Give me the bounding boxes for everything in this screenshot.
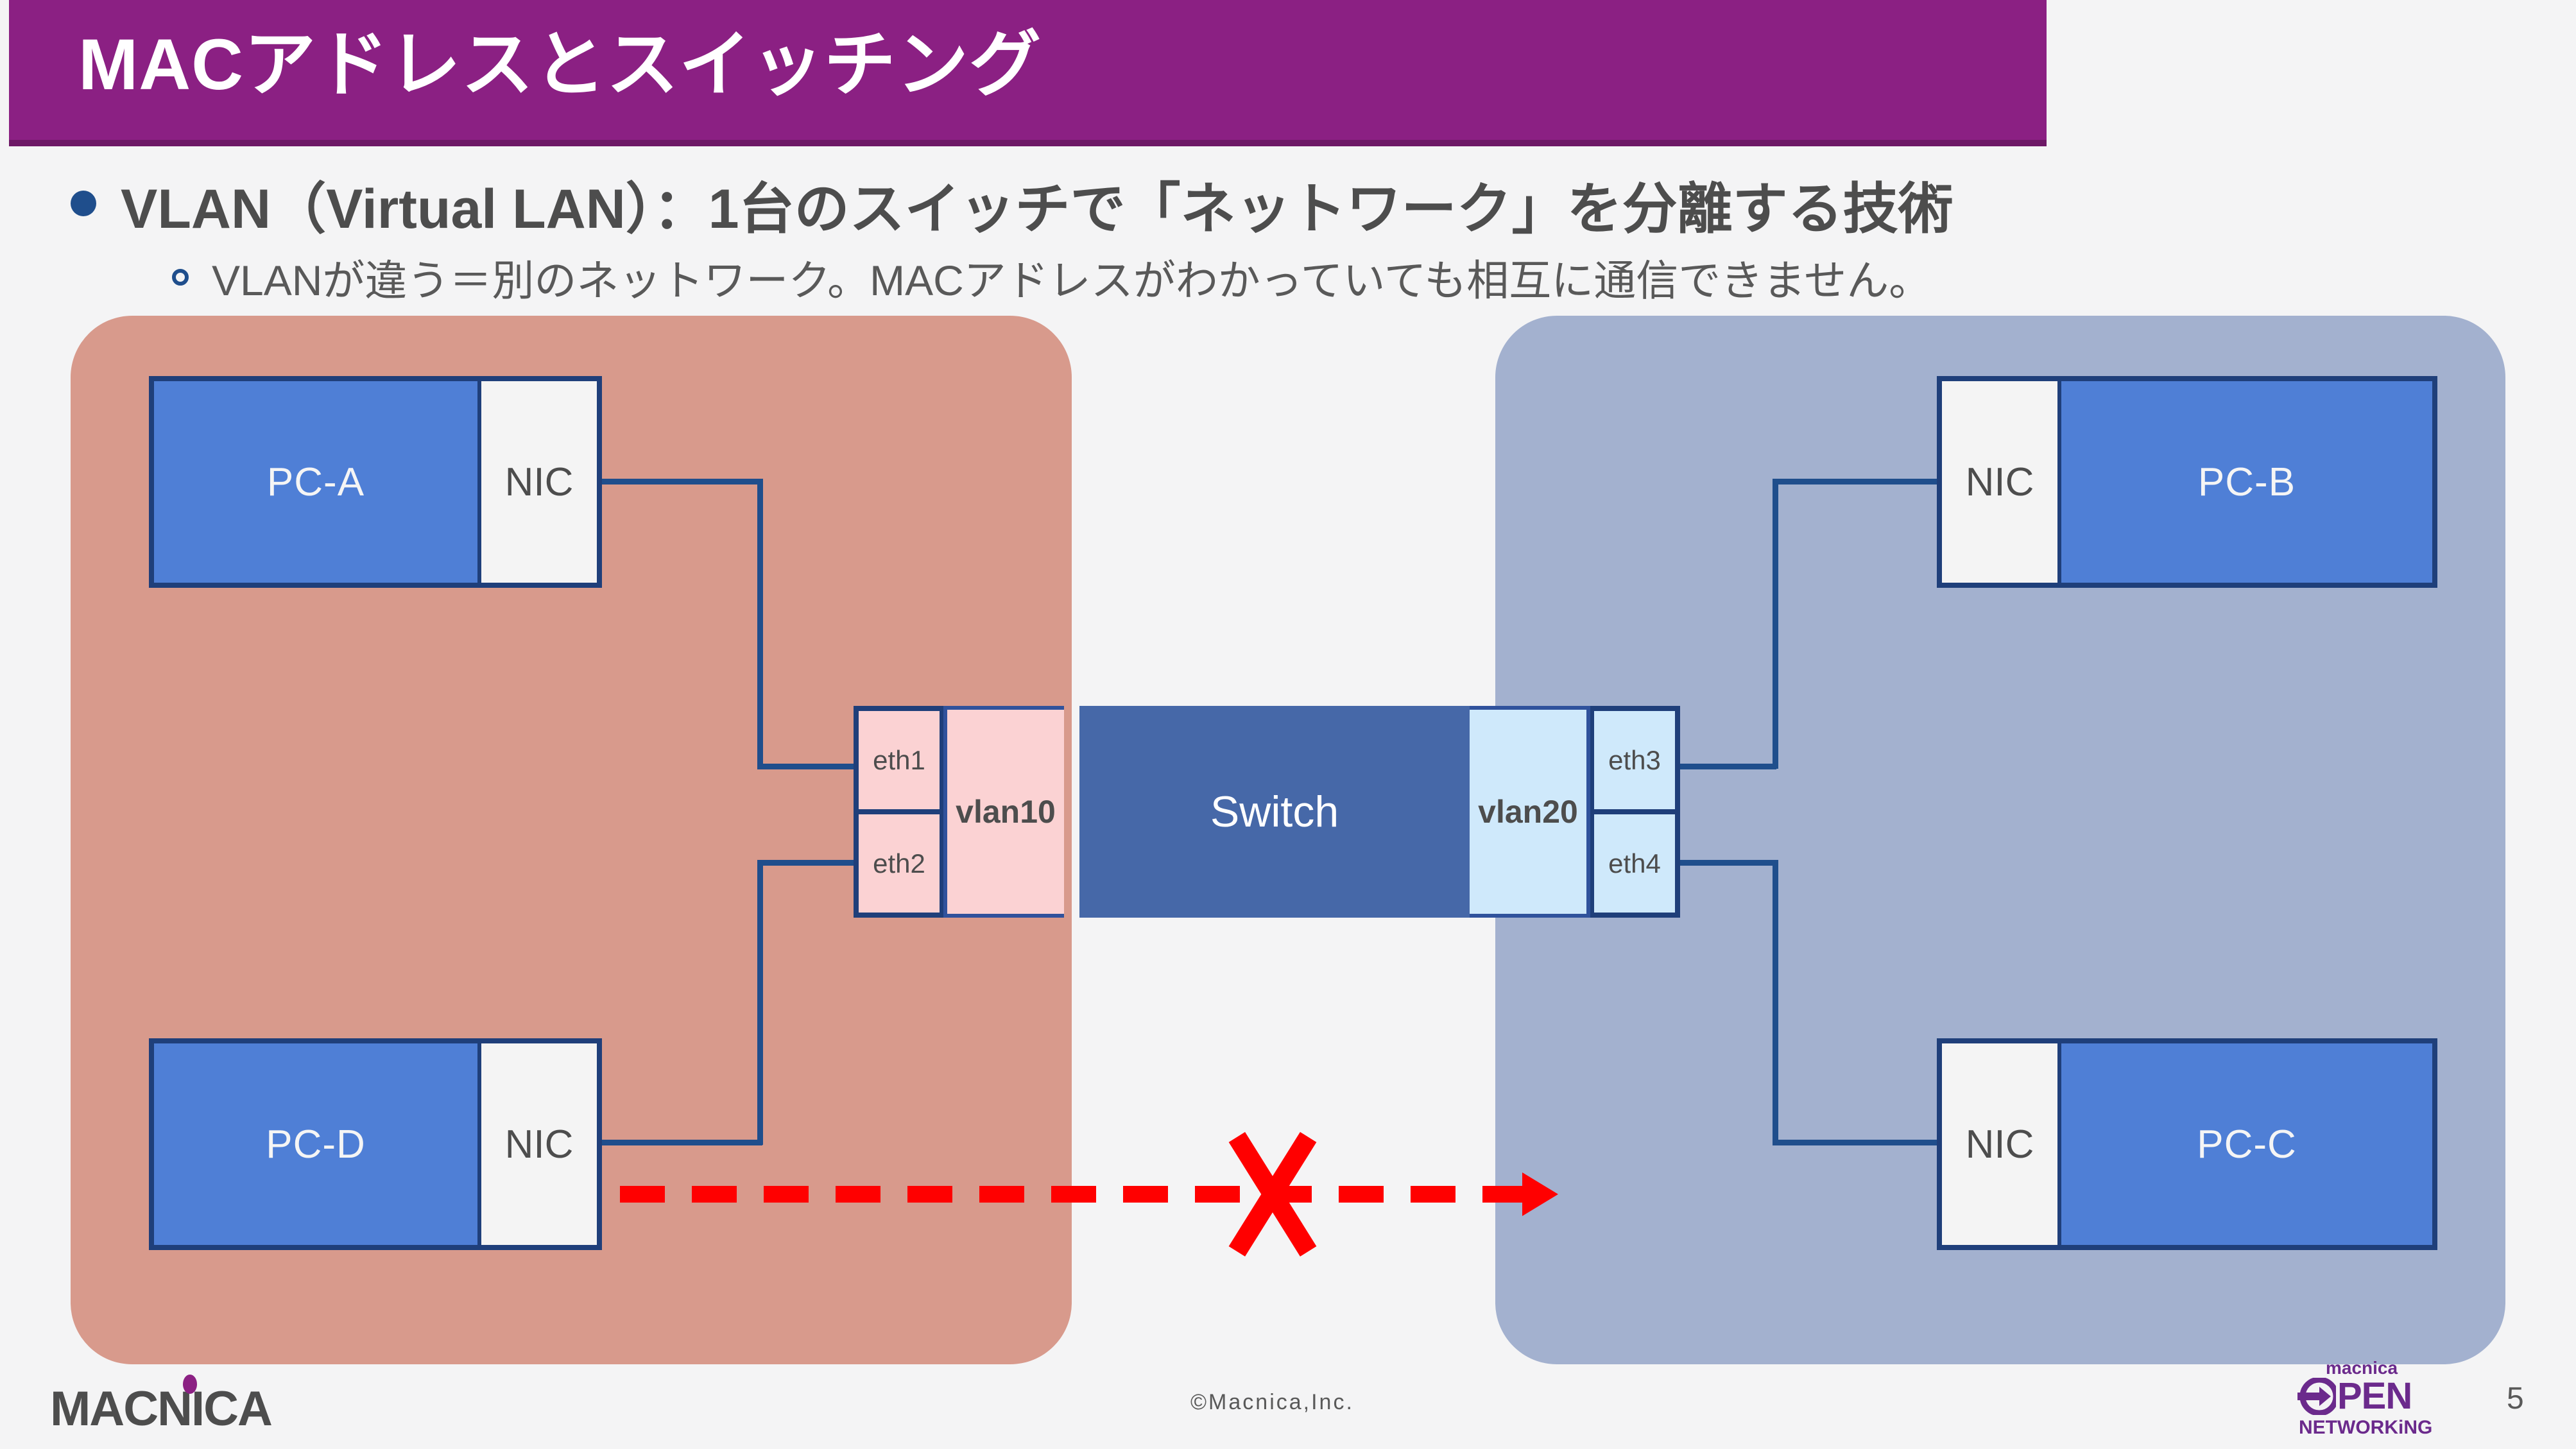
slide-root: MACアドレスとスイッチング VLAN（Virtual LAN）：1台のスイッチ… bbox=[0, 0, 2576, 1449]
open-logo-top-label: macnica bbox=[2326, 1359, 2398, 1377]
host-pc-c-label: PC-C bbox=[2061, 1043, 2432, 1245]
copyright-text: ©Macnica,Inc. bbox=[1190, 1390, 1354, 1415]
link-pcd-h2 bbox=[757, 860, 859, 866]
blocked-path-dashed-line bbox=[620, 1186, 1531, 1203]
link-pcc-v bbox=[1773, 860, 1778, 1145]
switch-port-eth4[interactable]: eth4 bbox=[1594, 814, 1675, 913]
switch-ports-right: eth3 eth4 bbox=[1590, 706, 1680, 918]
link-pca-h1 bbox=[598, 479, 762, 484]
link-pca-v bbox=[757, 479, 763, 769]
macnica-logo: MACNICA bbox=[50, 1378, 320, 1428]
link-pcb-h2 bbox=[1773, 479, 1941, 484]
link-pcc-h2 bbox=[1773, 1140, 1941, 1145]
bullet-level1-label: VLAN（Virtual LAN）：1台のスイッチで「ネットワーク」を分離する技… bbox=[121, 164, 1953, 244]
host-pc-d-nic: NIC bbox=[477, 1043, 597, 1245]
host-pc-b[interactable]: NIC PC-B bbox=[1937, 376, 2437, 588]
host-pc-b-nic: NIC bbox=[1942, 381, 2061, 583]
open-logo-word-label: PEN bbox=[2337, 1378, 2412, 1415]
switch-port-eth1[interactable]: eth1 bbox=[859, 711, 940, 814]
host-pc-c-nic: NIC bbox=[1942, 1043, 2061, 1245]
link-pcb-h1 bbox=[1676, 764, 1776, 769]
macnica-logo-dot-icon bbox=[183, 1375, 197, 1394]
arrow-into-circle-icon bbox=[2297, 1378, 2336, 1415]
link-pcc-h1 bbox=[1676, 860, 1776, 866]
link-pca-h2 bbox=[757, 764, 859, 769]
open-logo-middle-row: PEN bbox=[2297, 1377, 2412, 1416]
host-pc-c[interactable]: NIC PC-C bbox=[1937, 1038, 2437, 1250]
bullet-level2-label: VLANが違う＝別のネットワーク。MACアドレスがわかっていても相互に通信できま… bbox=[212, 246, 1931, 308]
macnica-open-networking-logo: macnica PEN NETWORKiNG bbox=[2297, 1359, 2445, 1441]
blocked-path-arrow-icon bbox=[1522, 1172, 1558, 1216]
page-number: 5 bbox=[2507, 1381, 2524, 1416]
host-pc-a-label: PC-A bbox=[154, 381, 477, 583]
bullet-dot-filled-icon bbox=[71, 191, 96, 216]
host-pc-d-label: PC-D bbox=[154, 1043, 477, 1245]
link-pcb-v bbox=[1773, 479, 1778, 769]
switch-vlan20-band: vlan20 bbox=[1470, 706, 1590, 918]
switch-vlan10-band: vlan10 bbox=[943, 706, 1064, 918]
host-pc-b-label: PC-B bbox=[2061, 381, 2432, 583]
switch-body-label[interactable]: Switch bbox=[1079, 706, 1470, 918]
blocked-path-cross-icon bbox=[1205, 1127, 1340, 1262]
bullet-dot-hollow-icon bbox=[172, 269, 189, 286]
host-pc-a[interactable]: PC-A NIC bbox=[149, 376, 602, 588]
host-pc-d[interactable]: PC-D NIC bbox=[149, 1038, 602, 1250]
host-pc-a-nic: NIC bbox=[477, 381, 597, 583]
link-pcd-v bbox=[757, 860, 763, 1145]
switch-port-eth3[interactable]: eth3 bbox=[1594, 711, 1675, 814]
page-title: MACアドレスとスイッチング bbox=[78, 17, 1042, 113]
bullet-level1: VLAN（Virtual LAN）：1台のスイッチで「ネットワーク」を分離する技… bbox=[71, 168, 1953, 239]
open-logo-bottom-label: NETWORKiNG bbox=[2299, 1418, 2432, 1437]
bullet-level2: VLANが違う＝別のネットワーク。MACアドレスがわかっていても相互に通信できま… bbox=[172, 246, 1931, 308]
macnica-wordmark: MACNICA bbox=[50, 1385, 271, 1434]
link-pcd-h1 bbox=[598, 1140, 762, 1145]
title-bar-shadow bbox=[9, 140, 2047, 146]
switch-ports-left: eth1 eth2 bbox=[854, 706, 943, 918]
switch-port-eth2[interactable]: eth2 bbox=[859, 814, 940, 913]
